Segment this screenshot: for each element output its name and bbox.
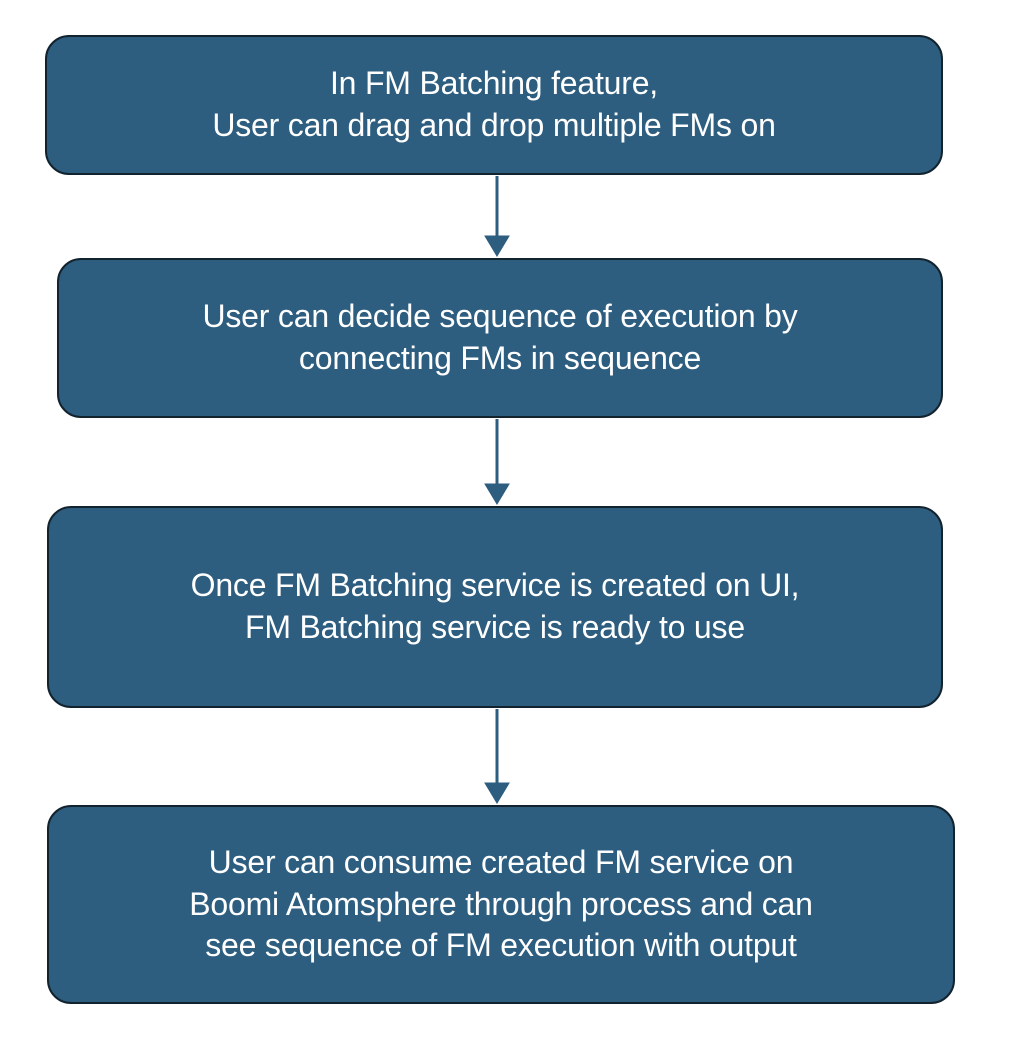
flow-node-consume-service-on-boomi-atomsphere[interactable]: User can consume created FM service on B… [47, 805, 955, 1004]
flow-node-line: FM Batching service is ready to use [245, 607, 745, 649]
flow-node-in-fm-batching-feature[interactable]: In FM Batching feature, User can drag an… [45, 35, 943, 175]
flow-node-decide-sequence-of-execution[interactable]: User can decide sequence of execution by… [57, 258, 943, 418]
flow-node-line: connecting FMs in sequence [299, 338, 701, 380]
flow-node-line: Boomi Atomsphere through process and can [189, 884, 813, 926]
flowchart-canvas: In FM Batching feature, User can drag an… [0, 0, 1014, 1038]
flow-node-line: Once FM Batching service is created on U… [191, 565, 800, 607]
arrowhead-icon [485, 783, 509, 803]
connector-node1-to-node2 [485, 176, 509, 256]
arrowhead-icon [485, 484, 509, 504]
flow-node-line: In FM Batching feature, [330, 63, 658, 105]
connector-node2-to-node3 [485, 419, 509, 504]
flow-node-line: User can drag and drop multiple FMs on [212, 105, 775, 147]
arrowhead-icon [485, 236, 509, 256]
flow-node-line: User can consume created FM service on [209, 842, 794, 884]
flow-node-line: User can decide sequence of execution by [202, 296, 797, 338]
flow-node-line: see sequence of FM execution with output [205, 925, 796, 967]
flow-node-service-created-ready-to-use[interactable]: Once FM Batching service is created on U… [47, 506, 943, 708]
connector-node3-to-node4 [485, 709, 509, 803]
